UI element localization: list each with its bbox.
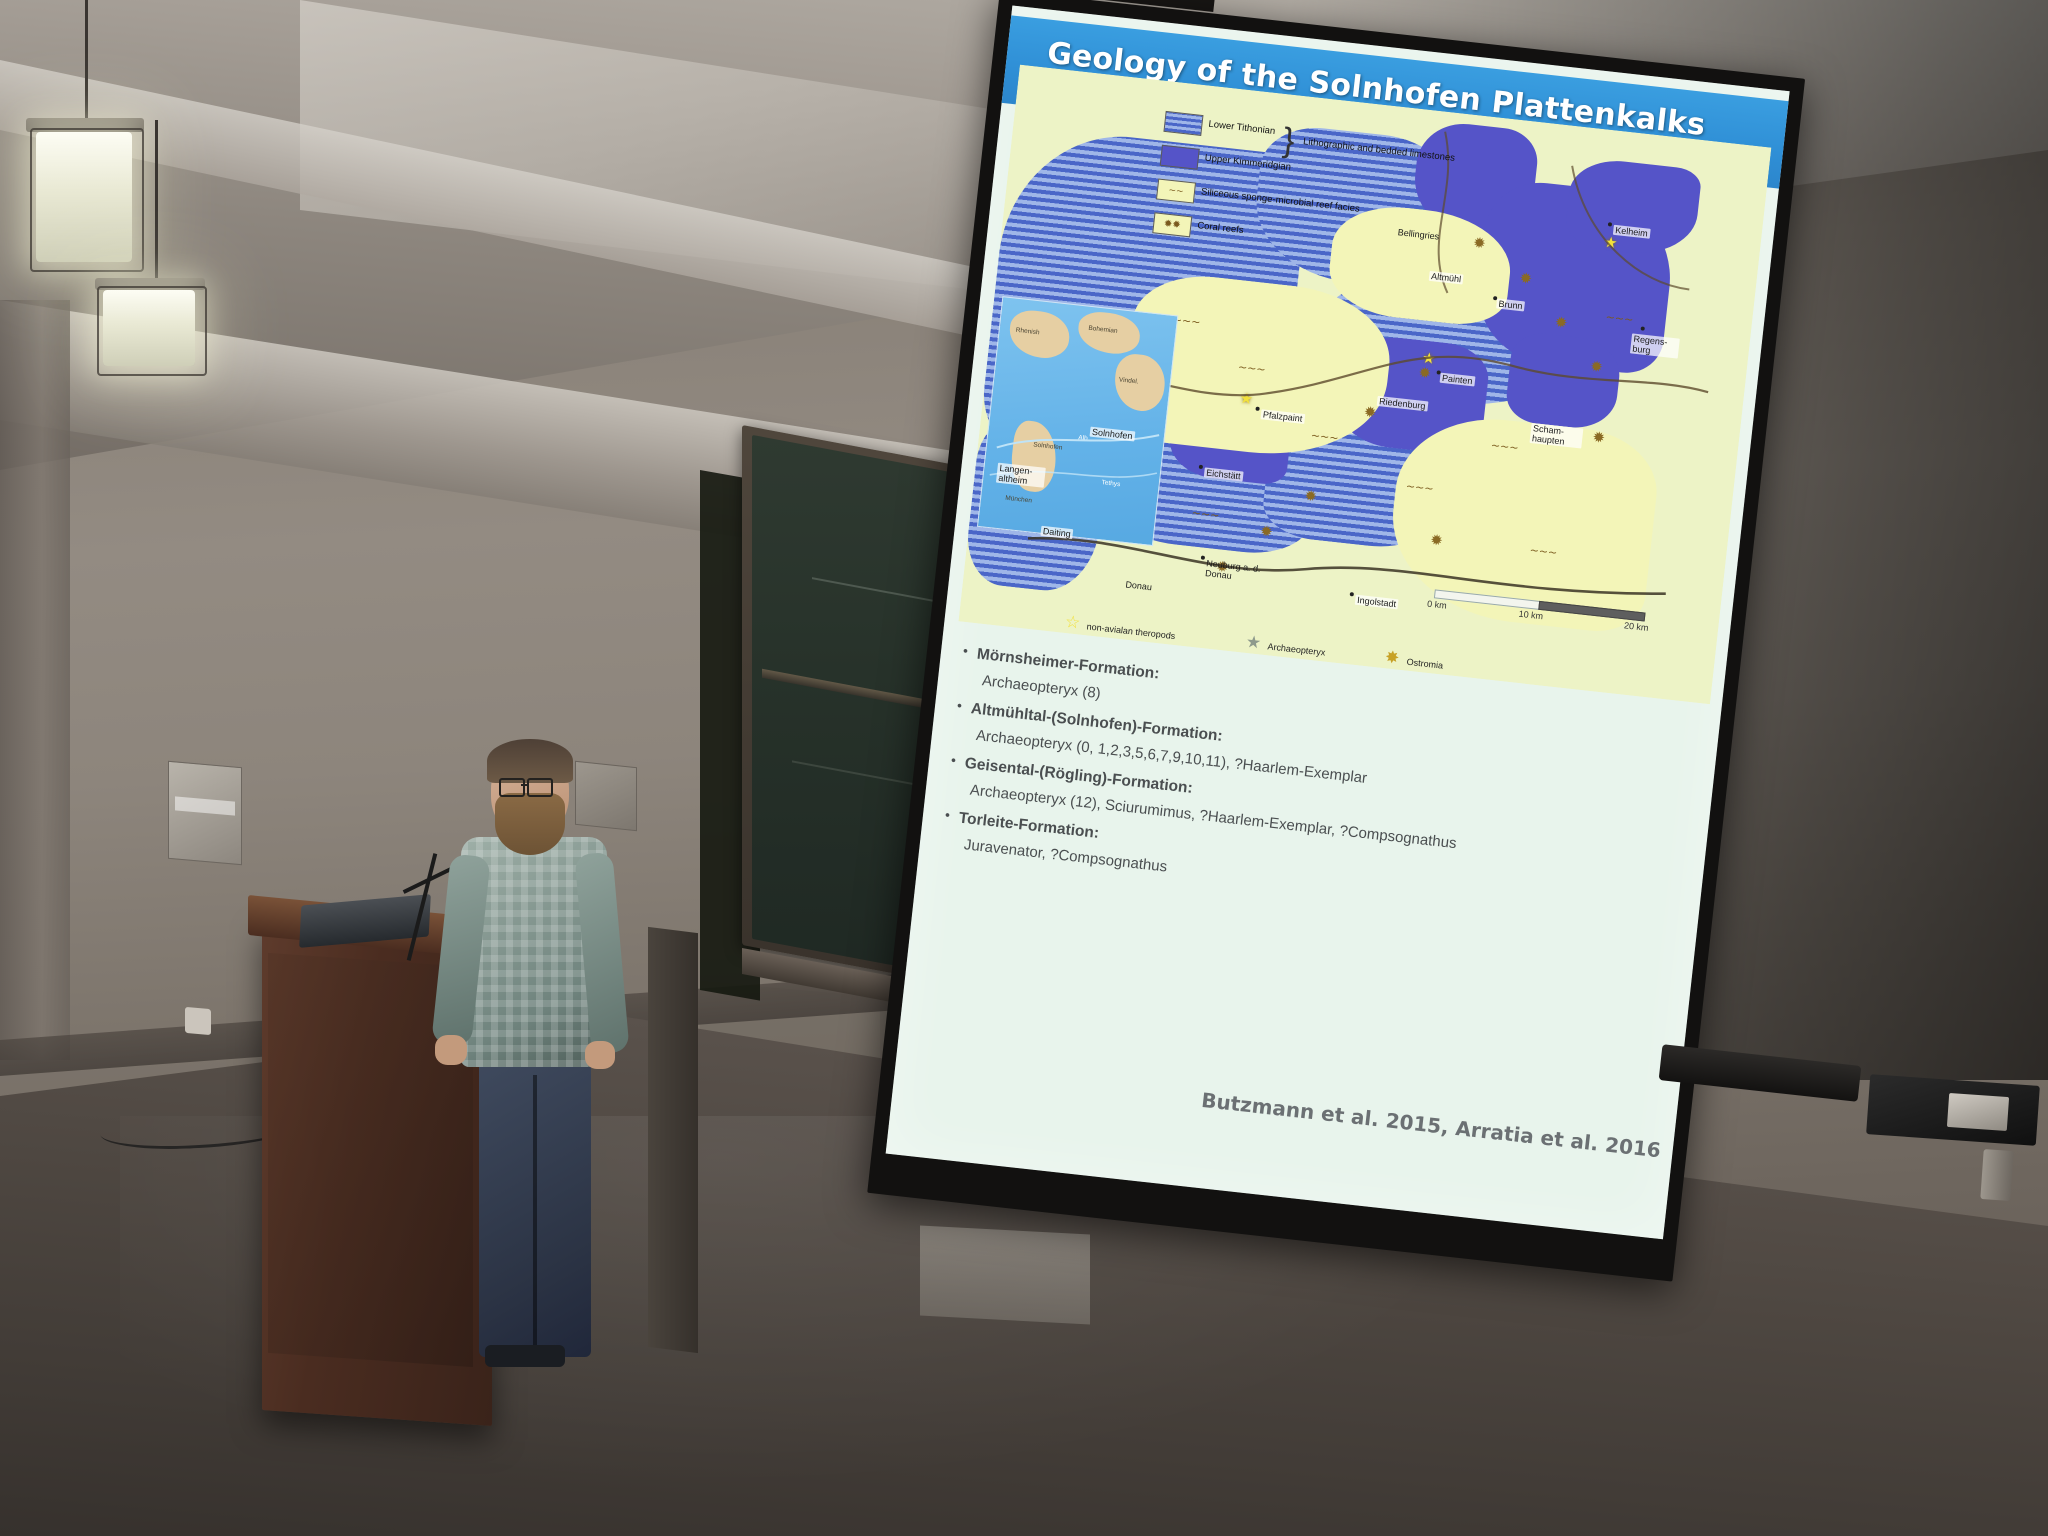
presentation-slide: Geology of the Solnhofen Plattenkalks [886, 5, 1790, 1239]
presenter-shoe [485, 1345, 565, 1367]
star-icon-archaeopteryx: ★ [1245, 633, 1262, 652]
wall-socket [185, 1007, 211, 1035]
star-icon-non-avialan: ☆ [1064, 613, 1081, 632]
radiator [920, 1226, 1090, 1325]
glasses-icon [499, 778, 525, 797]
projection-screen: Geology of the Solnhofen Plattenkalks [867, 0, 1805, 1282]
legend-label: Coral reefs [1197, 220, 1244, 236]
wall-pipe [1980, 1149, 2013, 1201]
slide-citation: Butzmann et al. 2015, Arratia et al. 201… [1142, 1082, 1661, 1163]
legend-swatch-lower-tithonian [1163, 111, 1203, 136]
scalebar-tick: 0 km [1427, 599, 1447, 611]
legend-swatch-upper-kimmeridgian [1160, 145, 1200, 170]
legend-swatch-coral-reefs: ✹✹ [1152, 212, 1192, 237]
glasses-icon [527, 778, 553, 797]
star-key-label: Ostromia [1406, 657, 1443, 671]
presenter-leg-seam [533, 1075, 537, 1355]
glasses-bridge [521, 784, 529, 786]
presenter-hand-left [435, 1035, 467, 1065]
presenter-hand-right [585, 1041, 615, 1069]
star-icon-ostromia: ✸ [1384, 648, 1400, 666]
lecture-hall-photo: Geology of the Solnhofen Plattenkalks [0, 0, 2048, 1536]
legend-label: Upper Kimmeridgian [1204, 153, 1291, 173]
presenter [455, 745, 615, 1375]
geology-map: ∼∼∼ ∼∼∼ ∼∼∼ ∼∼∼ ∼∼∼ ∼∼∼ ∼∼∼ ∼∼∼ ✹ ✹ ✹ ✹ … [958, 65, 1771, 705]
legend-swatch-sponge-reef: ∼∼ [1156, 179, 1196, 204]
presenter-beard [495, 793, 565, 855]
pendant-lamp [95, 120, 215, 440]
star-key-label: Archaeopteryx [1267, 641, 1326, 657]
door-frame [648, 927, 698, 1353]
legend-label: Lower Tithonian [1208, 119, 1276, 137]
paleogeographic-inset-map: Rhenish Bohemian Vindel. Solnhofen Alb T… [977, 296, 1178, 546]
wall-column [0, 300, 70, 1060]
electrical-panel [168, 761, 242, 865]
presenter-hair [487, 739, 573, 783]
wall-fixture-plate [1947, 1093, 2009, 1131]
map-legend: Lower Tithonian Upper Kimmeridgian ∼∼ Si… [1151, 109, 1414, 272]
